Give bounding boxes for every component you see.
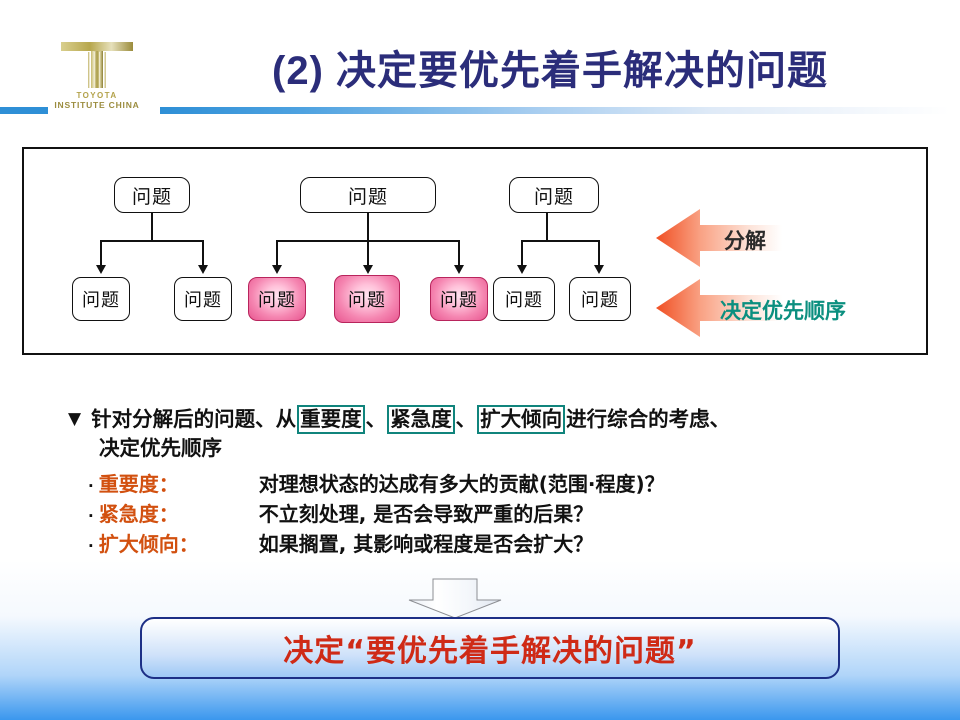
criteria-bullet-icon: ·: [88, 532, 94, 560]
tree-connector: [100, 240, 203, 242]
tree-leaf-node: 问题: [569, 277, 631, 321]
down-arrow-icon: [405, 578, 505, 620]
node-label: 问题: [348, 182, 388, 209]
node-label: 问题: [440, 286, 478, 312]
criteria-key: 重要度：: [99, 470, 259, 498]
arrowhead-icon: [594, 265, 604, 274]
tree-leaf-node: 问题: [174, 277, 232, 321]
lead-line-1-text: 针对分解后的问题、从重要度、紧急度、扩大倾向进行综合的考虑、: [91, 405, 730, 434]
criterion-chip-urgency: 紧急度: [387, 405, 455, 434]
tree-root-node: 问题: [300, 177, 436, 213]
node-label: 问题: [258, 286, 296, 312]
page-title: (2) 决定要优先着手解决的问题: [180, 38, 920, 96]
conclusion-text: 决定“要优先着手解决的问题”: [283, 626, 696, 670]
node-label: 问题: [348, 286, 386, 312]
toyota-institute-china-logo: TOYOTA INSTITUTE CHINA: [42, 38, 152, 113]
tree-connector: [100, 240, 102, 267]
tree-connector: [521, 240, 599, 242]
lead-line-2: 决定优先顺序: [99, 434, 948, 463]
tree-leaf-node: 问题: [72, 277, 130, 321]
criteria-bullet-icon: ·: [88, 472, 94, 500]
criterion-chip-importance: 重要度: [297, 405, 365, 434]
prioritize-label: 决定优先顺序: [720, 295, 846, 325]
tree-connector: [521, 240, 523, 267]
criteria-list: · 重要度： 对理想状态的达成有多大的贡献(范围·程度)？ · 紧急度： 不立刻…: [88, 470, 948, 560]
node-label: 问题: [82, 286, 120, 312]
tree-connector: [598, 240, 600, 267]
logo-text-institute-china: INSTITUTE CHINA: [42, 100, 152, 110]
tree-root-node: 问题: [114, 177, 190, 213]
node-label: 问题: [581, 286, 619, 312]
tree-connector: [202, 240, 204, 267]
tree-connector: [367, 213, 369, 241]
criteria-row: · 扩大倾向： 如果搁置, 其影响或程度是否会扩大？: [88, 530, 948, 560]
criteria-value: 如果搁置, 其影响或程度是否会扩大？: [259, 530, 594, 558]
node-label: 问题: [534, 182, 574, 209]
criteria-value: 不立刻处理, 是否会导致严重的后果？: [259, 500, 594, 528]
decomposition-diagram: 问题 问题 问题 问题 问题 问题 问题 问题 问题 问题: [22, 147, 928, 355]
tree-root-node: 问题: [509, 177, 599, 213]
tree-leaf-node-highlighted: 问题: [334, 275, 400, 323]
toyota-t-logo-icon: [42, 38, 152, 90]
conclusion-box: 决定“要优先着手解决的问题”: [140, 617, 840, 679]
lead-suffix: 进行综合的考虑、: [566, 407, 730, 431]
tree-connector: [458, 240, 460, 267]
node-label: 问题: [132, 182, 172, 209]
tree-connector: [367, 240, 369, 267]
arrowhead-icon: [96, 265, 106, 274]
logo-text-toyota: TOYOTA: [42, 91, 152, 100]
explanation-block: ▼ 针对分解后的问题、从重要度、紧急度、扩大倾向进行综合的考虑、 决定优先顺序 …: [68, 405, 948, 560]
arrowhead-icon: [454, 265, 464, 274]
node-label: 问题: [505, 286, 543, 312]
tree-connector: [276, 240, 278, 267]
tree-connector: [546, 213, 548, 241]
header-rule: [160, 107, 950, 114]
criteria-bullet-icon: ·: [88, 502, 94, 530]
lead-prefix: 针对分解后的问题、从: [91, 407, 296, 431]
lead-line-1: ▼ 针对分解后的问题、从重要度、紧急度、扩大倾向进行综合的考虑、: [68, 405, 948, 434]
slide-header: TOYOTA INSTITUTE CHINA (2) 决定要优先着手解决的问题: [0, 0, 960, 130]
arrowhead-icon: [363, 265, 373, 274]
arrowhead-icon: [517, 265, 527, 274]
decompose-label: 分解: [724, 225, 766, 255]
arrowhead-icon: [272, 265, 282, 274]
criterion-chip-expansion: 扩大倾向: [477, 405, 565, 434]
criteria-row: · 重要度： 对理想状态的达成有多大的贡献(范围·程度)？: [88, 470, 948, 500]
lead-separator-2: 、: [456, 407, 477, 431]
lead-separator-1: 、: [366, 407, 387, 431]
tree-leaf-node-highlighted: 问题: [430, 277, 488, 321]
arrowhead-icon: [198, 265, 208, 274]
criteria-key: 紧急度：: [99, 500, 259, 528]
criteria-key: 扩大倾向：: [99, 530, 259, 558]
criteria-value: 对理想状态的达成有多大的贡献(范围·程度)？: [259, 470, 665, 498]
tree-leaf-node: 问题: [493, 277, 555, 321]
tree-leaf-node-highlighted: 问题: [248, 277, 306, 321]
node-label: 问题: [184, 286, 222, 312]
header-rule-left-accent: [0, 107, 48, 114]
tree-connector: [151, 213, 153, 241]
criteria-row: · 紧急度： 不立刻处理, 是否会导致严重的后果？: [88, 500, 948, 530]
triangle-bullet-icon: ▼: [68, 405, 81, 434]
